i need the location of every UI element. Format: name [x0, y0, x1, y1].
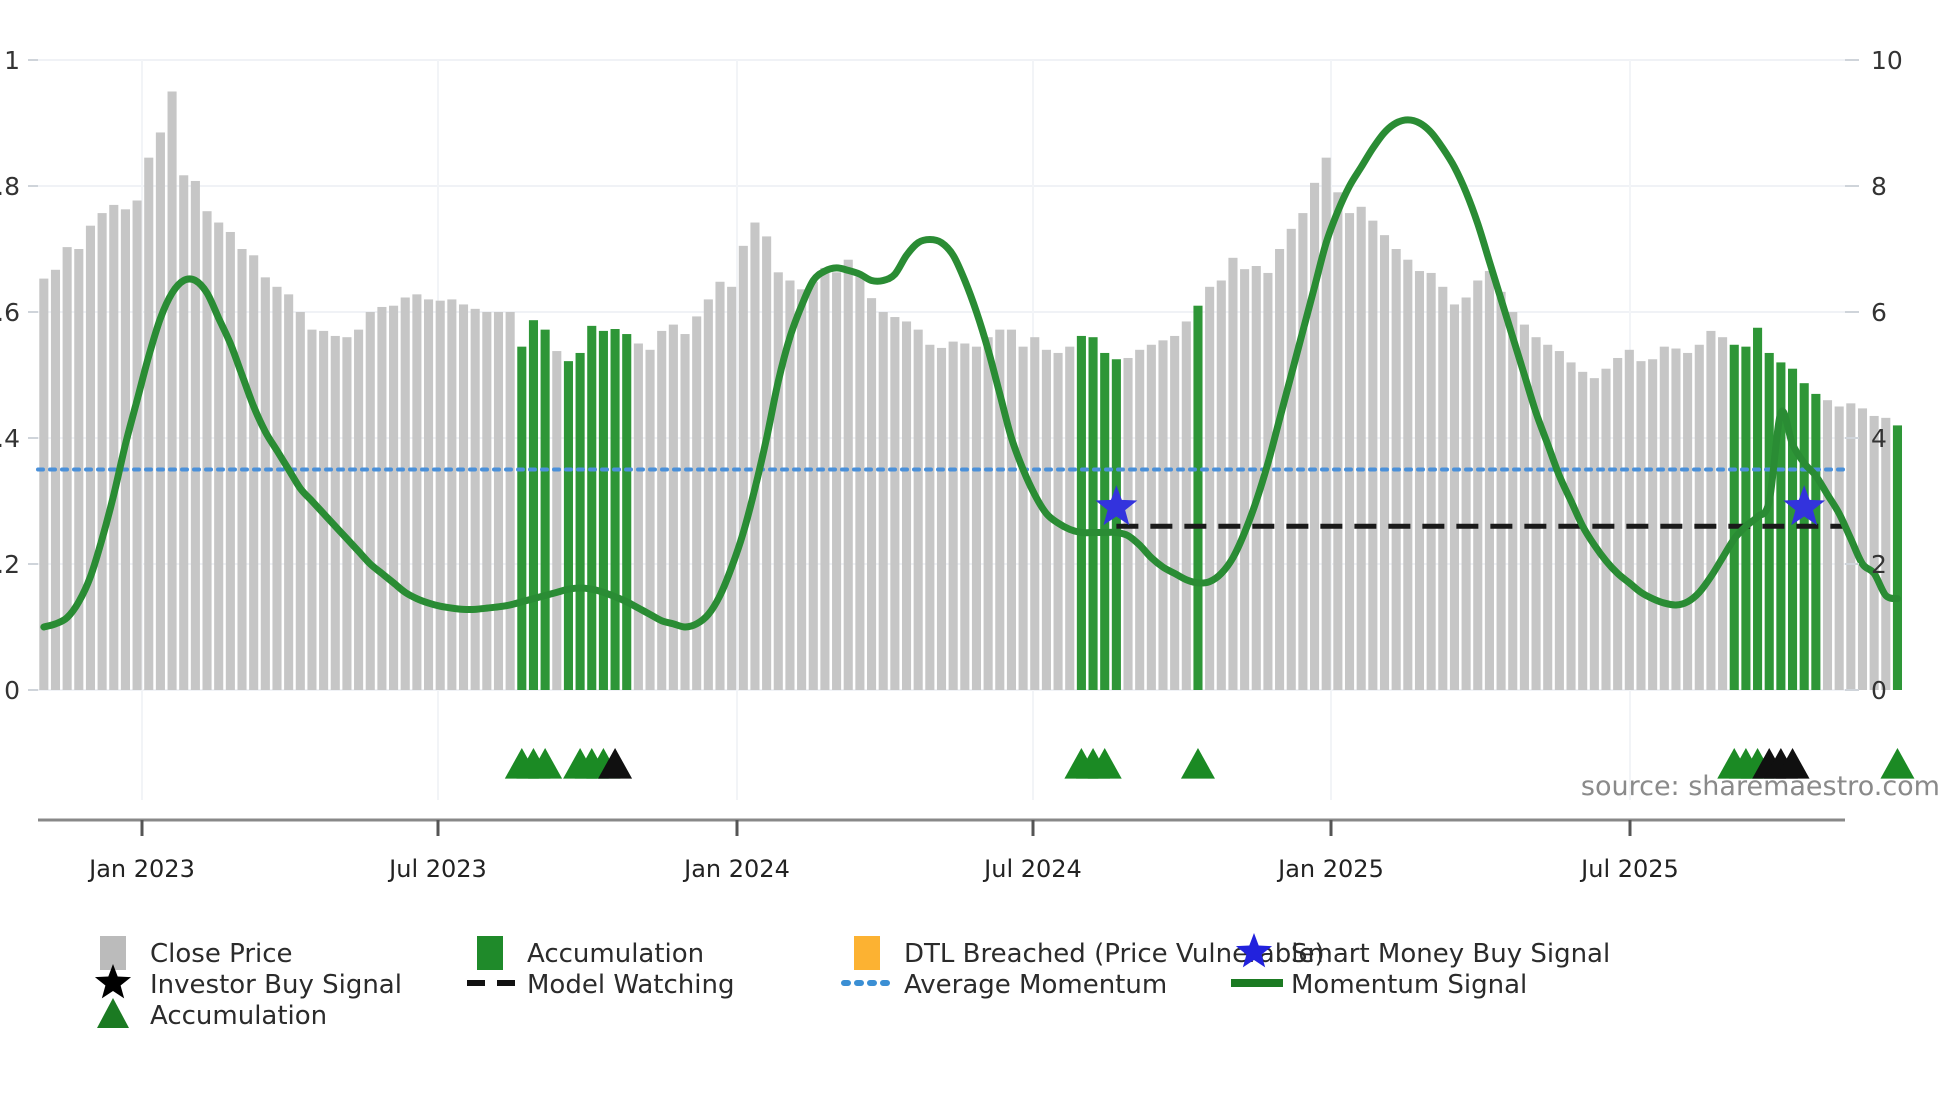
close-price-bar: [552, 351, 561, 690]
close-price-bar: [1065, 347, 1074, 690]
source-attribution: source: sharemaestro.com: [1581, 771, 1940, 802]
accumulation-bar: [1741, 347, 1750, 690]
legend-label: Close Price: [150, 939, 293, 969]
chart-legend: Close PriceAccumulationDTL Breached (Pri…: [95, 933, 1610, 1031]
close-price-bar: [1333, 192, 1342, 690]
close-price-bar: [844, 260, 853, 690]
close-price-bar: [669, 325, 678, 690]
close-price-bar: [168, 92, 177, 691]
legend-investor-buy[interactable]: Investor Buy Signal: [95, 964, 402, 1000]
accumulation-bar: [1077, 336, 1086, 690]
close-price-bar: [1007, 330, 1016, 690]
close-price-bar: [1135, 350, 1144, 690]
legend-label: Smart Money Buy Signal: [1291, 939, 1610, 969]
y-axis-right-tick: 8: [1871, 172, 1887, 201]
y-axis-right-tick: 0: [1871, 676, 1887, 705]
close-price-bar: [1205, 287, 1214, 690]
y-axis-left-tick: 0.8: [0, 172, 20, 201]
accumulation-bar: [1753, 328, 1762, 690]
close-price-bar: [144, 158, 153, 690]
y-axis-right-tick: 10: [1871, 46, 1903, 75]
close-price-bar: [1497, 292, 1506, 690]
x-axis-tick: Jan 2024: [682, 855, 790, 883]
close-price-bar: [1473, 281, 1482, 691]
y-axis-left-tick: 0.2: [0, 550, 20, 579]
close-price-bar: [972, 347, 981, 690]
close-price-bar: [1438, 287, 1447, 690]
y-axis-right-tick: 2: [1871, 550, 1887, 579]
x-axis-tick: Jan 2025: [1276, 855, 1384, 883]
close-price-bar: [1030, 337, 1039, 690]
close-price-bar: [1310, 183, 1319, 690]
close-price-bar: [377, 307, 386, 690]
close-price-bar: [1858, 408, 1867, 690]
accumulation-bar: [564, 361, 573, 690]
close-price-bar: [98, 213, 107, 690]
close-price-bar: [879, 312, 888, 690]
close-price-bar: [692, 316, 701, 690]
close-price-bar: [1648, 359, 1657, 690]
close-price-bar: [937, 348, 946, 690]
close-price-bar: [657, 331, 666, 690]
close-price-bar: [226, 232, 235, 690]
close-price-bar: [750, 223, 759, 690]
close-price-bar: [1019, 347, 1028, 690]
close-price-bar: [412, 294, 421, 690]
x-axis-tick: Jul 2025: [1579, 855, 1679, 883]
close-price-bar: [1823, 400, 1832, 690]
close-price-bar: [1625, 350, 1634, 690]
legend-label: Accumulation: [527, 939, 704, 969]
legend-accumulation-bar[interactable]: Accumulation: [477, 936, 704, 970]
close-price-bar: [1170, 336, 1179, 690]
close-price-bar: [960, 344, 969, 691]
price-bars: [39, 92, 1902, 691]
y-axis-left-tick: 1: [4, 46, 20, 75]
close-price-bar: [820, 268, 829, 690]
close-price-bar: [1508, 312, 1517, 690]
close-price-bar: [809, 282, 818, 690]
close-price-bar: [506, 312, 515, 690]
close-price-bar: [902, 321, 911, 690]
y-axis-right-tick: 4: [1871, 424, 1887, 453]
x-axis-tick: Jul 2023: [387, 855, 487, 883]
accumulation-bar: [1893, 425, 1902, 690]
close-price-bar: [482, 312, 491, 690]
close-price-bar: [214, 223, 223, 690]
accumulation-bar: [599, 331, 608, 690]
close-price-bar: [680, 334, 689, 690]
close-price-bar: [471, 309, 480, 690]
x-axis-tick: Jan 2023: [87, 855, 195, 883]
close-price-bar: [1835, 407, 1844, 691]
close-price-bar: [191, 181, 200, 690]
y-axis-left-tick: 0.6: [0, 298, 20, 327]
close-price-bar: [1462, 298, 1471, 690]
accumulation-bar: [622, 334, 631, 690]
close-price-bar: [109, 205, 118, 690]
close-price-bar: [296, 312, 305, 690]
close-price-bar: [342, 337, 351, 690]
legend-accumulation-triangle[interactable]: Accumulation: [97, 998, 327, 1031]
close-price-bar: [646, 350, 655, 690]
close-price-bar: [1158, 340, 1167, 690]
accumulation-bar: [1800, 383, 1809, 690]
close-price-bar: [1403, 260, 1412, 690]
close-price-bar: [832, 272, 841, 690]
close-price-bar: [1671, 349, 1680, 690]
close-price-bar: [354, 330, 363, 690]
close-price-bar: [1601, 369, 1610, 690]
accumulation-bar: [529, 320, 538, 690]
close-price-bar: [1252, 266, 1261, 690]
close-price-bar: [1345, 213, 1354, 690]
legend-swatch: [854, 936, 880, 970]
close-price-bar: [1532, 337, 1541, 690]
close-price-bar: [249, 255, 258, 690]
close-price-bar: [156, 132, 165, 690]
close-price-bar: [179, 175, 188, 690]
close-price-bar: [1660, 347, 1669, 690]
close-price-bar: [284, 294, 293, 690]
accumulation-bar: [1765, 353, 1774, 690]
legend-average-momentum[interactable]: Average Momentum: [844, 970, 1167, 1000]
accumulation-bar: [1788, 369, 1797, 690]
buy-signal-stars: [1095, 485, 1825, 525]
close-price-bar: [436, 301, 445, 690]
legend-label: Investor Buy Signal: [150, 970, 402, 1000]
close-price-bar: [867, 298, 876, 690]
close-price-bar: [1450, 304, 1459, 690]
close-price-bar: [1415, 271, 1424, 690]
chart-svg: 00.20.40.60.810246810Jan 2023Jul 2023Jan…: [0, 0, 1960, 1102]
close-price-bar: [1706, 331, 1715, 690]
close-price-bar: [704, 299, 713, 690]
accumulation-bar: [576, 353, 585, 690]
close-price-bar: [389, 306, 398, 690]
close-price-bar: [331, 336, 340, 690]
close-price-bar: [447, 299, 456, 690]
close-price-bar: [1287, 229, 1296, 690]
close-price-bar: [1380, 235, 1389, 690]
close-price-bar: [949, 342, 958, 690]
close-price-bar: [1543, 345, 1552, 690]
y-axis-left-tick: 0: [4, 676, 20, 705]
accumulation-bar: [1730, 345, 1739, 690]
y-axis-left-tick: 0.4: [0, 424, 20, 453]
close-price-bar: [86, 226, 95, 690]
legend-momentum-signal[interactable]: Momentum Signal: [1231, 970, 1527, 1000]
close-price-bar: [307, 330, 316, 690]
accumulation-bar: [1811, 394, 1820, 690]
close-price-bar: [366, 312, 375, 690]
close-price-bar: [1357, 207, 1366, 690]
close-price-bar: [727, 287, 736, 690]
close-price-bar: [1683, 353, 1692, 690]
accumulation-bar: [587, 326, 596, 690]
accumulation-bar: [1193, 306, 1202, 690]
close-price-bar: [1718, 337, 1727, 690]
close-price-bar: [424, 299, 433, 690]
legend-model-watching[interactable]: Model Watching: [467, 970, 734, 1000]
accumulation-bar: [541, 330, 550, 690]
close-price-bar: [1613, 358, 1622, 690]
close-price-bar: [261, 277, 270, 690]
close-price-bar: [1182, 321, 1191, 690]
momentum-accumulation-chart: 00.20.40.60.810246810Jan 2023Jul 2023Jan…: [0, 0, 1960, 1102]
close-price-bar: [715, 282, 724, 690]
legend-smart-money-buy[interactable]: Smart Money Buy Signal: [1236, 933, 1610, 969]
close-price-bar: [855, 276, 864, 690]
legend-label: Model Watching: [527, 970, 734, 1000]
close-price-bar: [1427, 273, 1436, 690]
close-price-bar: [890, 317, 899, 690]
legend-label: Average Momentum: [904, 970, 1167, 1000]
close-price-bar: [797, 289, 806, 690]
close-price-bar: [925, 345, 934, 690]
legend-label: Momentum Signal: [1291, 970, 1527, 1000]
accumulation-bar: [517, 347, 526, 690]
close-price-bar: [1147, 345, 1156, 690]
close-price-bar: [1368, 221, 1377, 690]
close-price-bar: [133, 200, 142, 690]
legend-close-price[interactable]: Close Price: [100, 936, 293, 970]
close-price-bar: [1695, 345, 1704, 690]
y-axis-right-tick: 6: [1871, 298, 1887, 327]
close-price-bar: [1228, 258, 1237, 690]
close-price-bar: [1298, 213, 1307, 690]
close-price-bar: [914, 330, 923, 690]
legend-swatch: [477, 936, 503, 970]
close-price-bar: [1555, 351, 1564, 690]
close-price-bar: [272, 287, 281, 690]
close-price-bar: [401, 298, 410, 690]
close-price-bar: [774, 272, 783, 690]
legend-triangle-icon: [97, 998, 129, 1028]
accumulation-marker: [1181, 748, 1215, 779]
legend-label: Accumulation: [150, 1001, 327, 1031]
close-price-bar: [459, 304, 468, 690]
close-price-bar: [494, 312, 503, 690]
close-price-bar: [1217, 281, 1226, 691]
close-price-bar: [634, 344, 643, 691]
accumulation-bar: [611, 329, 620, 690]
accumulation-bar: [1089, 337, 1098, 690]
x-axis-tick: Jul 2024: [982, 855, 1082, 883]
close-price-bar: [1485, 271, 1494, 690]
close-price-bar: [1240, 269, 1249, 690]
close-price-bar: [984, 337, 993, 690]
